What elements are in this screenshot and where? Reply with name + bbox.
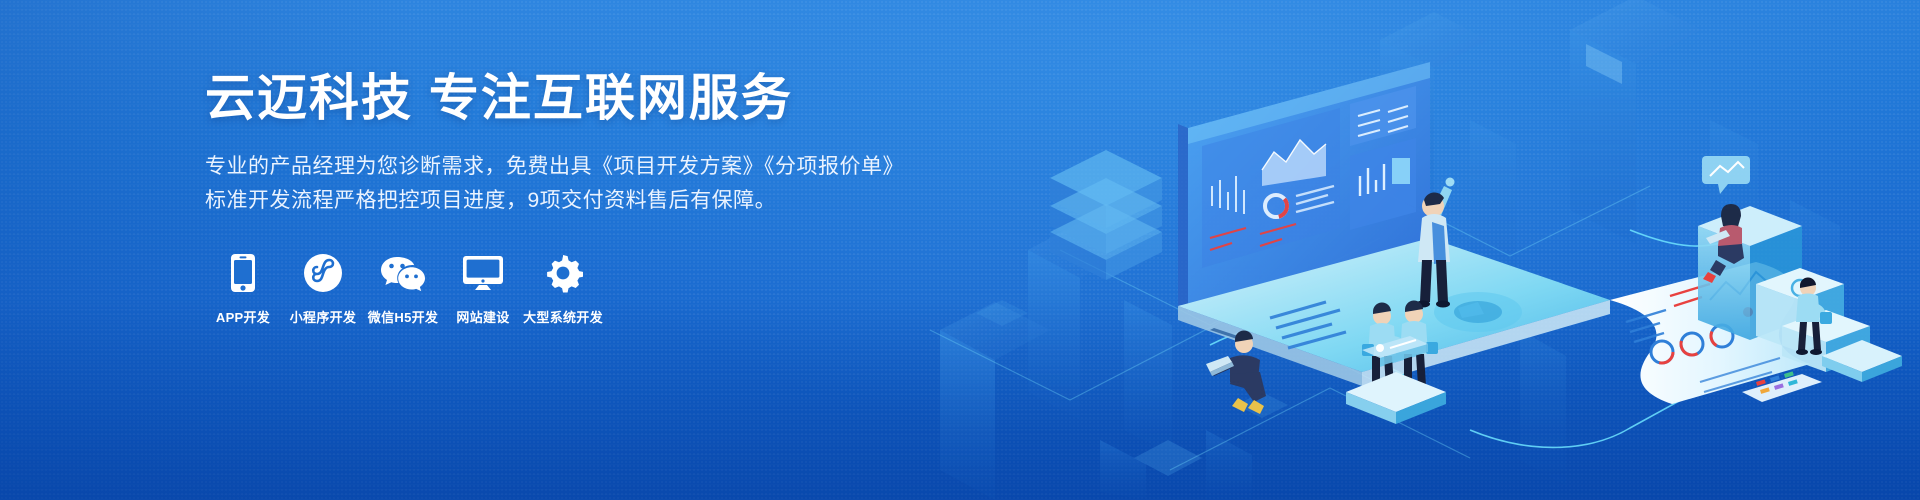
subtitle-line-2: 标准开发流程严格把控项目进度，9项交付资料售后有保障。 [205, 184, 905, 218]
service-label: 微信H5开发 [368, 307, 438, 326]
gear-icon [543, 252, 583, 294]
hero-content: 云迈科技 专注互联网服务 专业的产品经理为您诊断需求，免费出具《项目开发方案》《… [205, 68, 905, 326]
mobile-phone-icon [230, 252, 256, 294]
service-item-mini-program[interactable]: 小程序开发 [287, 252, 359, 326]
service-item-wechat-h5[interactable]: 微信H5开发 [367, 252, 439, 326]
mini-program-icon [303, 252, 343, 294]
hero-subtitle: 专业的产品经理为您诊断需求，免费出具《项目开发方案》《分项报价单》 标准开发流程… [205, 150, 905, 218]
hero-banner: 云迈科技 专注互联网服务 专业的产品经理为您诊断需求，免费出具《项目开发方案》《… [0, 0, 1920, 500]
service-item-website[interactable]: 网站建设 [447, 252, 519, 326]
service-label: 大型系统开发 [523, 307, 603, 326]
illustration-isometric-dashboard [910, 0, 1920, 500]
monitor-icon [462, 252, 504, 294]
service-label: APP开发 [216, 307, 270, 326]
service-list: APP开发 小程序开发 [207, 252, 905, 326]
wechat-icon [380, 252, 426, 294]
page-title: 云迈科技 专注互联网服务 [205, 68, 905, 128]
service-label: 小程序开发 [290, 307, 357, 326]
service-item-app[interactable]: APP开发 [207, 252, 279, 326]
subtitle-line-1: 专业的产品经理为您诊断需求，免费出具《项目开发方案》《分项报价单》 [205, 150, 905, 184]
service-label: 网站建设 [456, 307, 509, 326]
service-item-large-system[interactable]: 大型系统开发 [527, 252, 599, 326]
